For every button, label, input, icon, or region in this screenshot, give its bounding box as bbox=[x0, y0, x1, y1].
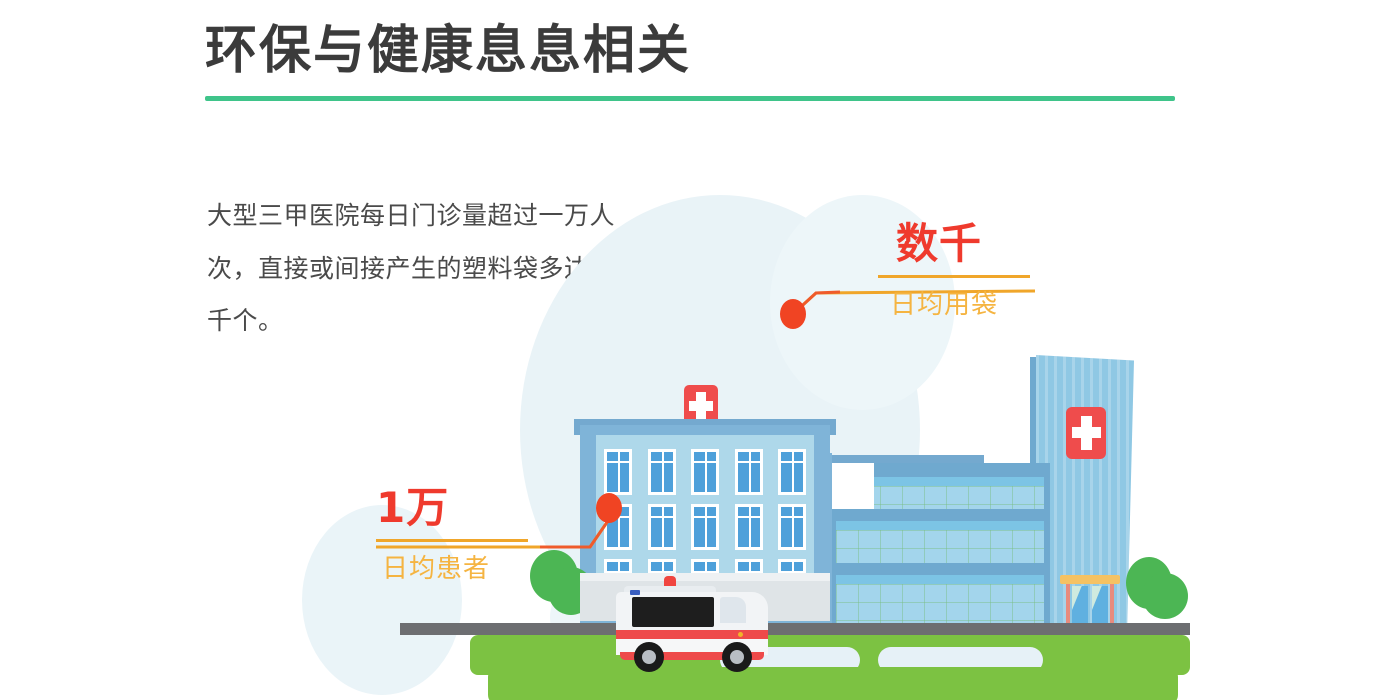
leader-line-patients bbox=[280, 175, 1400, 700]
callout-bags: 数千 日均用袋 bbox=[878, 223, 1030, 321]
callout-patients: 1万 日均患者 bbox=[376, 487, 528, 585]
callout-patients-label: 日均患者 bbox=[376, 548, 528, 585]
callout-dot-patients bbox=[596, 493, 622, 523]
page-title: 环保与健康息息相关 bbox=[205, 22, 1185, 82]
campus-scene: 数千 日均用袋 1万 日均患者 bbox=[280, 175, 1400, 700]
callout-bags-rule bbox=[878, 275, 1030, 278]
callout-bags-label: 日均用袋 bbox=[878, 284, 1030, 321]
callout-patients-rule bbox=[376, 539, 528, 542]
title-underline-rule bbox=[205, 96, 1175, 101]
callout-dot-bags bbox=[780, 299, 806, 329]
hospital-illustration: 数千 日均用袋 1万 日均患者 bbox=[280, 175, 1400, 700]
slide-canvas: 环保与健康息息相关 大型三甲医院每日门诊量超过一万人次，直接或间接产生的塑料袋多… bbox=[0, 0, 1400, 700]
heading-block: 环保与健康息息相关 bbox=[205, 22, 1185, 101]
callout-patients-value: 1万 bbox=[376, 487, 528, 529]
callout-bags-value: 数千 bbox=[878, 223, 1030, 265]
